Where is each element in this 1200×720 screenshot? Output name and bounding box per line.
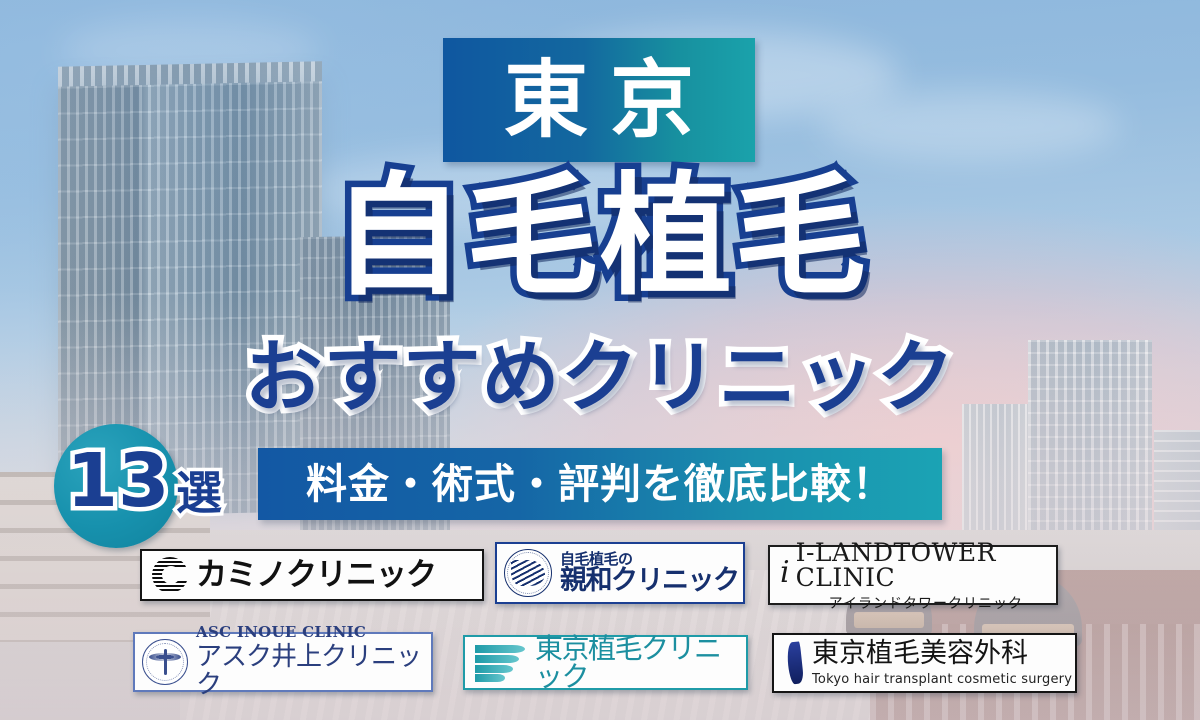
clinic-logo-kamino[interactable]: カミノクリニック <box>140 549 484 601</box>
caduceus-seal-icon <box>142 639 188 685</box>
page-subtitle: おすすめクリニック <box>0 338 1200 420</box>
clinic-logo-shinwa[interactable]: 自毛植毛の 親和クリニック <box>495 542 745 604</box>
clinic-name: 東京植毛クリニック <box>535 635 746 691</box>
clinic-name-en: Tokyo hair transplant cosmetic surgery <box>812 673 1072 686</box>
clinic-name-jp: アイランドタワークリニック <box>796 597 1056 611</box>
clinic-name-jp: 東京植毛美容外科 <box>812 640 1072 668</box>
clinic-logo-island-tower[interactable]: i I-LANDTOWER CLINIC アイランドタワークリニック <box>768 545 1058 605</box>
tagline-bar: 料金・術式・評判を徹底比較！ <box>258 448 942 520</box>
count-badge: 13 選 <box>54 424 264 548</box>
hero-banner: 東京 自毛植毛 おすすめクリニック 13 選 料金・術式・評判を徹底比較！ カミ… <box>0 0 1200 720</box>
script-i-icon: i <box>780 558 790 588</box>
tagline-text: 料金・術式・評判を徹底比較！ <box>306 464 894 505</box>
region-badge: 東京 <box>443 38 755 162</box>
clinic-name-jp: アスク井上クリニック <box>196 644 431 699</box>
region-badge-label: 東京 <box>482 58 716 142</box>
count-number: 13 <box>60 444 176 518</box>
striped-c-icon <box>152 557 188 593</box>
wave-feather-icon <box>475 643 527 683</box>
clinic-name-en: ASC INOUE CLINIC <box>196 625 431 640</box>
clinic-logo-tokyo-shokumo[interactable]: 東京植毛クリニック <box>463 635 748 690</box>
clinic-name-en: I-LANDTOWER CLINIC <box>796 540 1056 590</box>
clinic-name: カミノクリニック <box>196 560 436 591</box>
count-unit: 選 <box>176 470 222 516</box>
clinic-name: 親和クリニック <box>560 567 739 595</box>
blue-flame-icon <box>784 642 806 684</box>
clinic-logo-asc-inoue[interactable]: ASC INOUE CLINIC アスク井上クリニック <box>133 632 433 692</box>
page-title: 自毛植毛 <box>0 168 1200 307</box>
shinwa-seal-icon <box>504 549 552 597</box>
clinic-logo-tokyo-biyou-geka[interactable]: 東京植毛美容外科 Tokyo hair transplant cosmetic … <box>772 633 1077 693</box>
